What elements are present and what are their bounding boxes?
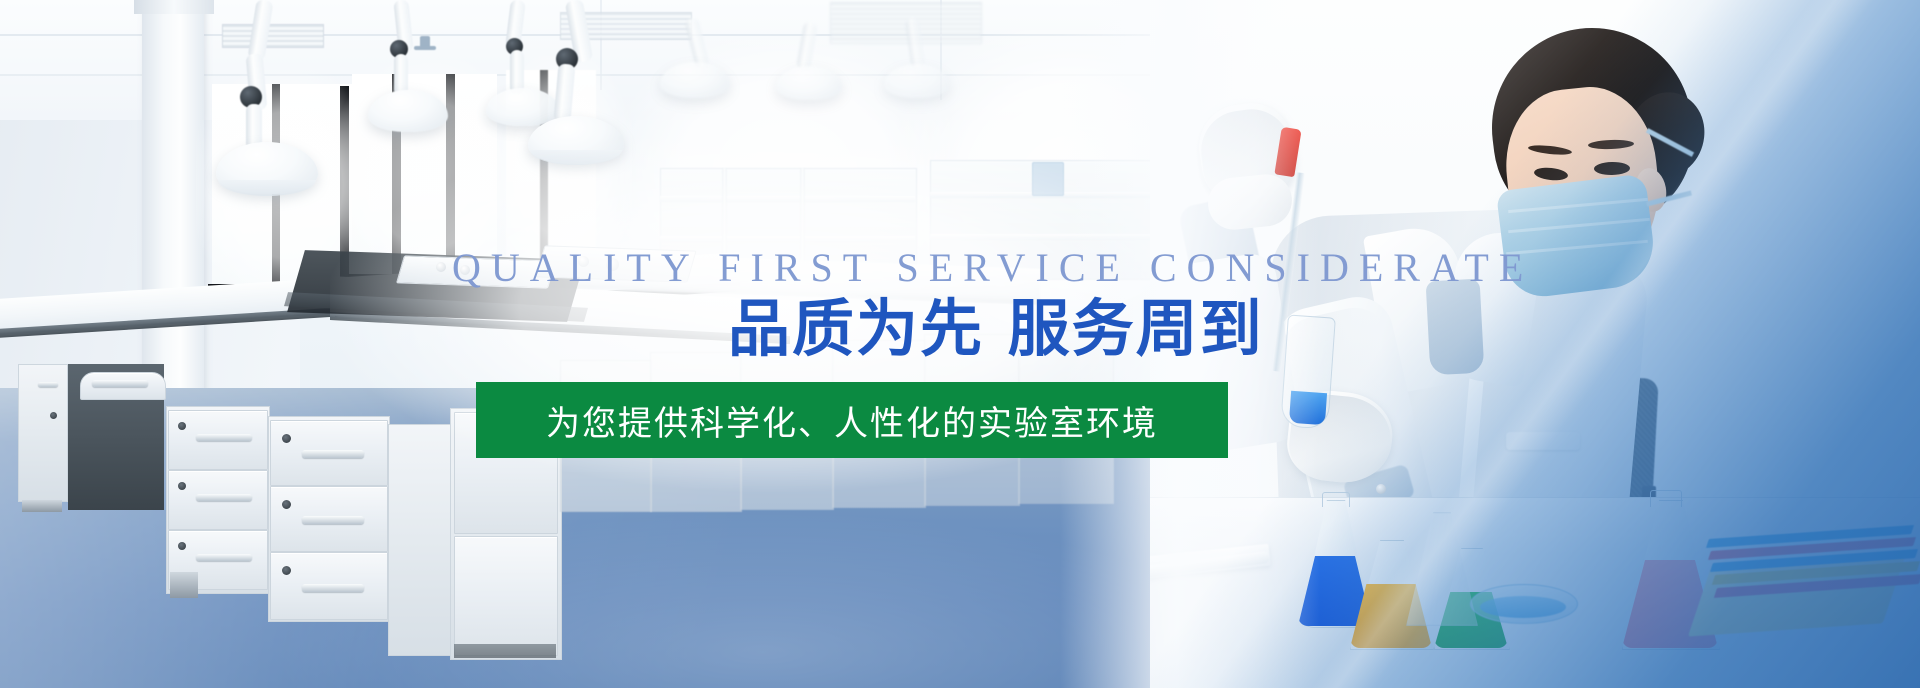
flask-liquid-blue [1289,391,1327,425]
fixture-knob-icon [436,262,446,272]
pullout-handle[interactable] [92,380,148,387]
cuff-button-icon [1376,484,1386,494]
column-cap [134,0,214,14]
pendant-hood-lamp [776,66,842,100]
petri-liquid [1480,596,1566,618]
inner-shirt [1426,279,1485,376]
cabinet-lock-icon[interactable] [50,412,57,419]
cabinet-lock-icon[interactable] [282,500,291,509]
ceiling-vent-icon [222,24,324,48]
cabinet-foot [170,572,198,598]
cabinet-handle[interactable] [302,450,364,458]
scientist-photo [1150,0,1920,688]
cabinet-handle[interactable] [38,382,58,387]
shelf-board [660,196,915,202]
flask-neck [1650,490,1682,507]
pendant-hood-lamp [884,64,950,98]
headline-chinese: 品质为先 服务周到 [728,296,1264,363]
cabinet-foot [22,500,62,512]
cabinet-handle[interactable] [196,434,252,441]
flask-neck [1322,492,1350,507]
cabinet-lock-icon[interactable] [282,434,291,443]
cabinet-plinth [454,644,556,658]
cabinet-lock-icon[interactable] [178,482,186,490]
pendant-hood-lamp [660,62,730,98]
sprinkler-icon [414,46,436,50]
subtitle-text: 为您提供科学化、人性化的实验室环境 [546,396,1158,445]
hero-banner: QUALITY FIRST SERVICE CONSIDERATE 品质为先 服… [0,0,1920,688]
shelf-board [660,236,915,242]
tagline-english: QUALITY FIRST SERVICE CONSIDERATE [452,248,1533,288]
cabinet-handle[interactable] [196,554,252,561]
cabinet-handle[interactable] [302,584,364,592]
shelf-board [930,234,1160,240]
cabinet-lock-icon[interactable] [282,566,291,575]
cabinet-lock-icon[interactable] [178,542,186,550]
shelf-logo-icon [1032,162,1064,196]
coat-pocket [1506,432,1580,450]
cabinet-lock-icon[interactable] [178,422,186,430]
cabinet-handle[interactable] [196,494,252,501]
cabinet-handle[interactable] [302,516,364,524]
cabinet-door[interactable] [454,536,558,656]
subtitle-bar: 为您提供科学化、人性化的实验室环境 [476,382,1228,458]
cabinet-unit [388,424,452,656]
